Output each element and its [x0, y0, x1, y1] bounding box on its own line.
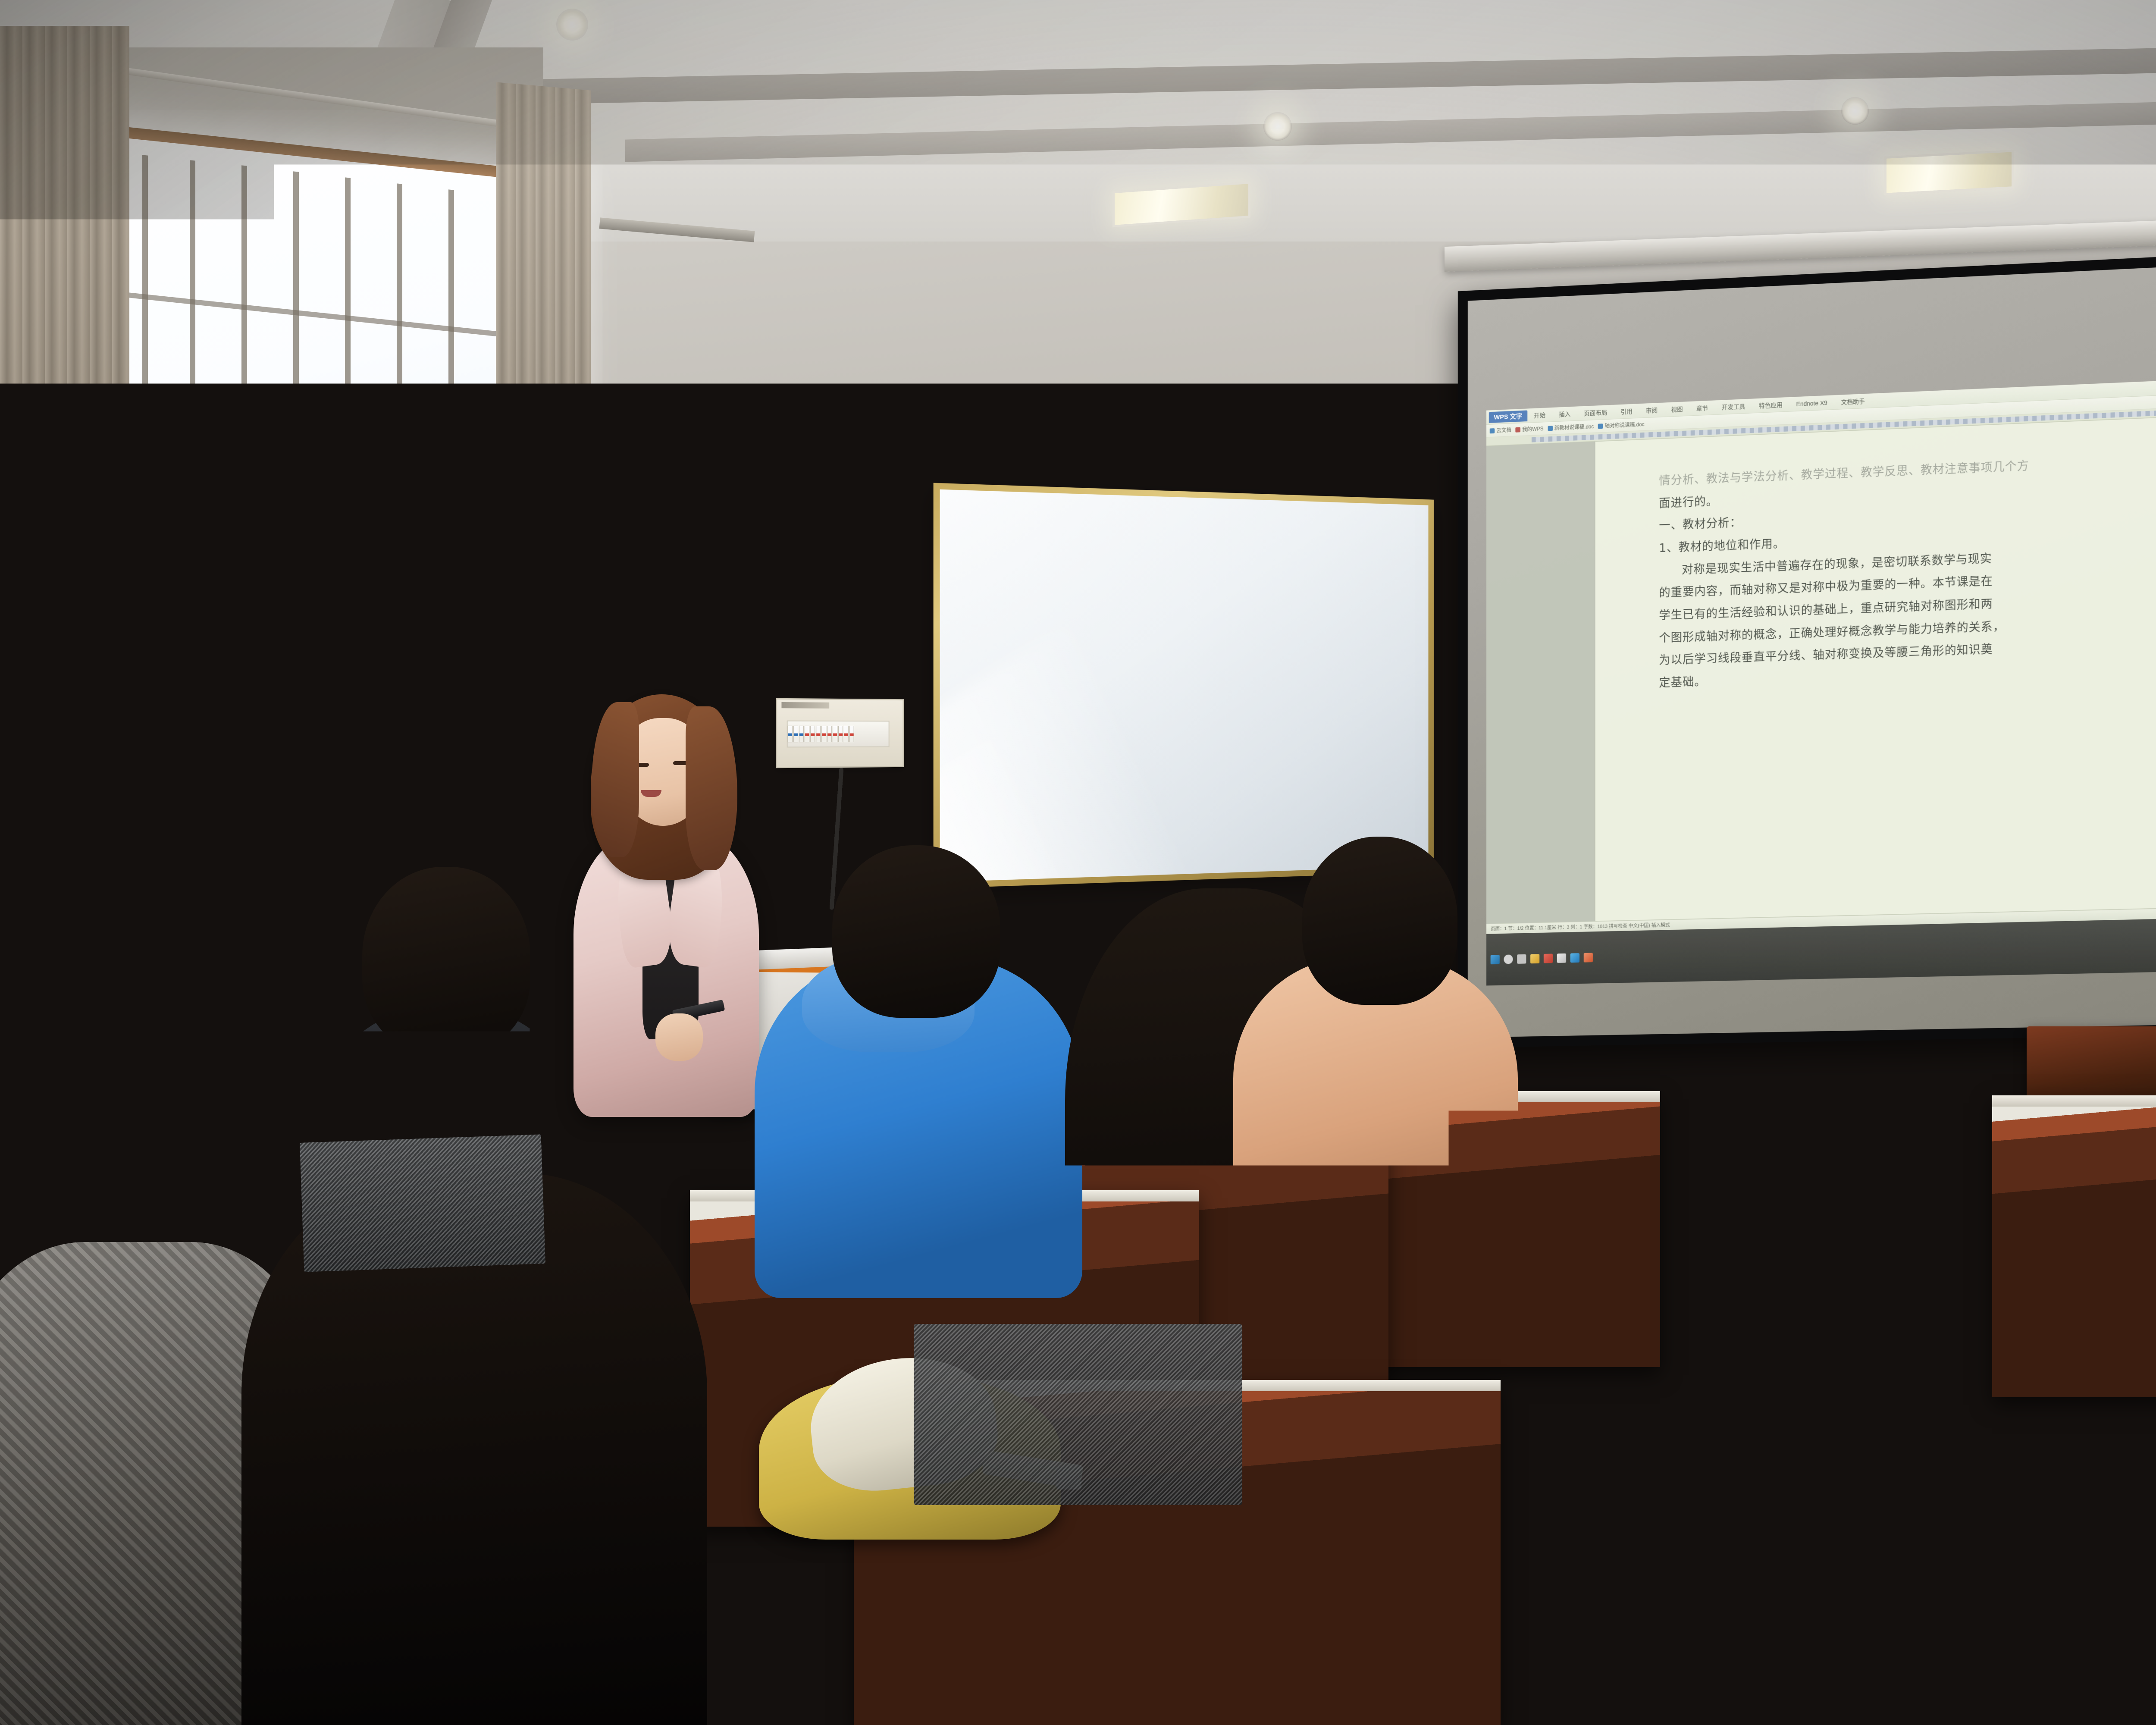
cloud-doc-label: 云文档 [1496, 427, 1511, 434]
tab-developer[interactable]: 开发工具 [1715, 399, 1752, 414]
tab-page-layout[interactable]: 页面布局 [1577, 405, 1614, 420]
teacher-hand [655, 1013, 703, 1061]
desk-surface [1992, 1095, 2156, 1107]
tab-doc-helper[interactable]: 文档助手 [1834, 394, 1872, 410]
student-7[interactable] [1229, 837, 1531, 1246]
breaker-switch-icon[interactable] [810, 726, 815, 742]
window-grille-bar [142, 155, 148, 957]
file-explorer-icon[interactable] [1530, 954, 1539, 963]
tab-insert[interactable]: 插入 [1552, 407, 1577, 422]
tab-section[interactable]: 章节 [1689, 401, 1715, 416]
document-icon [1548, 426, 1553, 431]
breaker-switch-icon[interactable] [844, 726, 849, 742]
doc-tab-1-label: 新教材说课稿.doc [1554, 423, 1594, 432]
heart-icon [1516, 427, 1521, 432]
student-7-head [1302, 837, 1457, 1005]
breaker-switch-icon[interactable] [849, 726, 854, 742]
projected-desktop: WPS 文字 开始 插入 页面布局 引用 审阅 视图 章节 开发工具 特色应用 … [1486, 370, 2156, 986]
ceiling-panel-light-icon [1884, 150, 2014, 195]
document-page[interactable]: 情分析、教法与学法分析、教学过程、教学反思、教材注意事项几个方 面进行的。 一、… [1595, 411, 2156, 921]
chair[interactable] [707, 1117, 949, 1246]
whiteboard[interactable] [934, 483, 1434, 889]
teacher-hair-front-left [592, 702, 639, 857]
breaker-switch-icon[interactable] [816, 726, 821, 742]
chair[interactable] [300, 1134, 545, 1272]
student-3-head [362, 867, 530, 1052]
breaker-switch-icon[interactable] [838, 726, 843, 742]
window-grille-bar [190, 160, 195, 963]
document-icon [1598, 423, 1603, 429]
eyeglasses-icon [116, 940, 181, 961]
classroom-photo: Projector WPS 文字 开始 插入 页面布局 引用 审阅 视图 章节 [0, 0, 2156, 1725]
ceiling-downlight-icon [556, 9, 588, 41]
wps-document-area[interactable]: 情分析、教法与学法分析、教学过程、教学反思、教材注意事项几个方 面进行的。 一、… [1486, 406, 2156, 923]
student-5-head [832, 845, 1000, 1018]
projection-surface: WPS 文字 开始 插入 页面布局 引用 审阅 视图 章节 开发工具 特色应用 … [1468, 254, 2156, 1038]
ceiling-downlight-icon [1841, 97, 1869, 125]
window-grille-bar [241, 165, 247, 968]
student-desk[interactable] [1992, 1095, 2156, 1397]
ceiling-downlight-icon [1263, 112, 1292, 141]
tab-start[interactable]: 开始 [1527, 408, 1552, 423]
breaker-switch-icon[interactable] [833, 726, 837, 742]
wps-writer-window[interactable]: WPS 文字 开始 插入 页面布局 引用 审阅 视图 章节 开发工具 特色应用 … [1486, 370, 2156, 934]
mail-icon[interactable] [1557, 953, 1566, 963]
tab-featured-apps[interactable]: 特色应用 [1752, 397, 1789, 413]
browser-icon[interactable] [1544, 953, 1553, 963]
my-wps-label: 我的WPS [1522, 425, 1544, 433]
tab-review[interactable]: 审阅 [1639, 403, 1664, 418]
tab-endnote[interactable]: Endnote X9 [1789, 395, 1834, 411]
breaker-switch-icon[interactable] [827, 726, 832, 742]
my-wps-button[interactable]: 我的WPS [1516, 425, 1544, 434]
doc-tab-2[interactable]: 轴对称说课稿.doc [1598, 420, 1645, 430]
breaker-switch-icon[interactable] [821, 726, 826, 742]
projection-screen[interactable]: WPS 文字 开始 插入 页面布局 引用 审阅 视图 章节 开发工具 特色应用 … [1458, 243, 2156, 1048]
cloud-icon [1490, 428, 1495, 433]
doc-tab-1[interactable]: 新教材说课稿.doc [1548, 423, 1594, 432]
curtain-left[interactable] [0, 26, 129, 845]
cloud-doc-button[interactable]: 云文档 [1490, 427, 1511, 435]
ceiling-coffer-band-2 [625, 91, 2156, 162]
wps-writer-icon[interactable] [1570, 953, 1579, 963]
whiteboard-surface [940, 489, 1429, 882]
chair[interactable] [914, 1324, 1242, 1505]
teacher-hair-front-right [686, 706, 737, 870]
doc-tab-2-label: 轴对称说课稿.doc [1604, 420, 1644, 430]
wps-app-logo: WPS 文字 [1489, 410, 1527, 423]
tab-reference[interactable]: 引用 [1614, 404, 1639, 419]
media-player-icon[interactable] [1584, 953, 1593, 962]
tab-view[interactable]: 视图 [1664, 401, 1690, 417]
